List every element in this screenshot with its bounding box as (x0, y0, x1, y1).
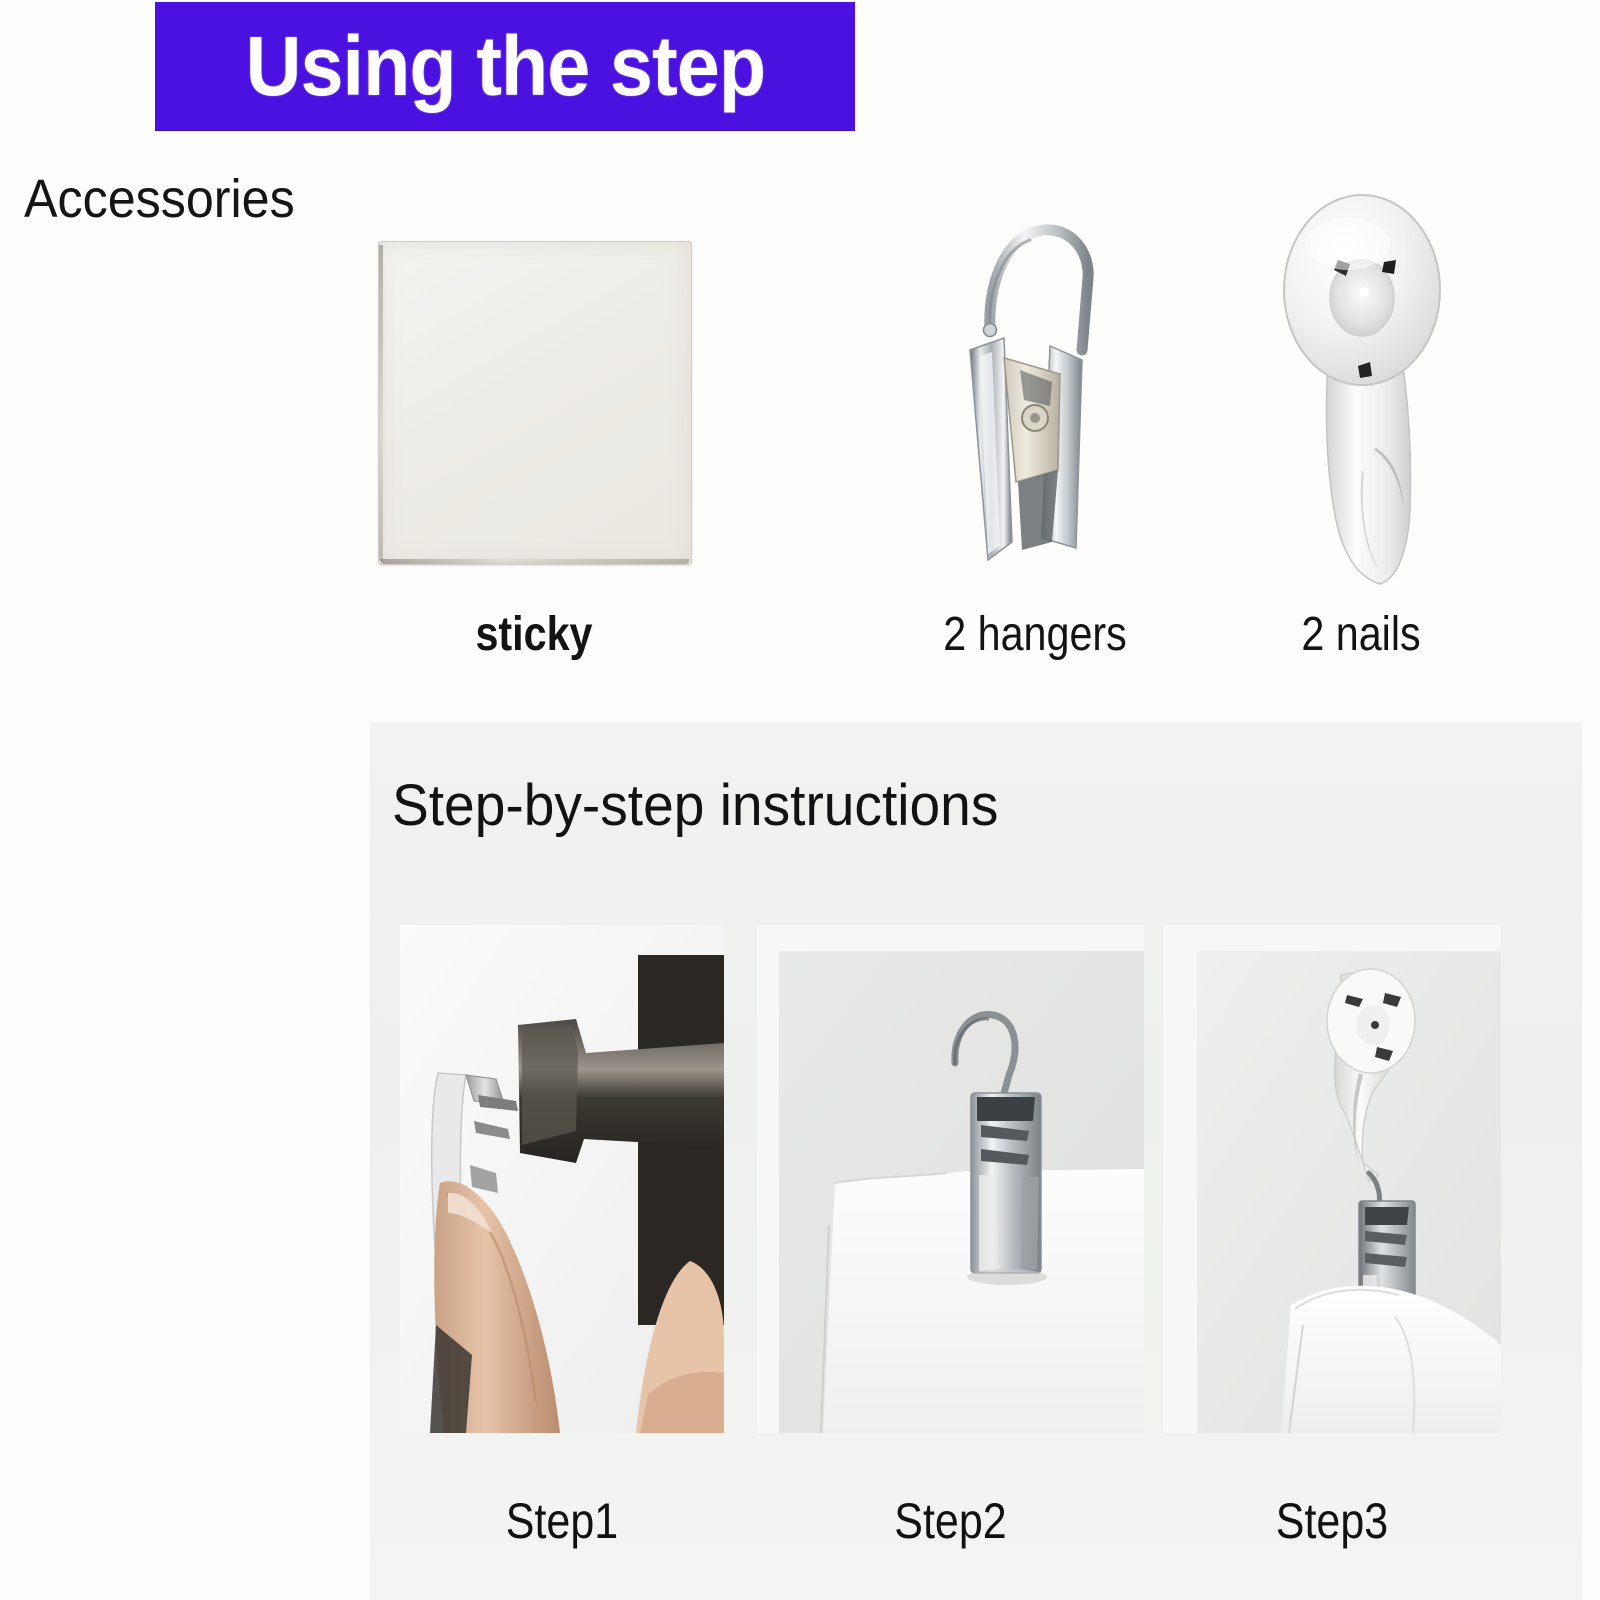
step-1-photo (400, 925, 724, 1433)
title-banner: Using the step (155, 2, 855, 130)
page-title: Using the step (245, 24, 765, 108)
accessory-caption-hangers: 2 hangers (923, 607, 1147, 662)
step-2-photo (757, 925, 1144, 1433)
accessory-caption-sticky: sticky (400, 607, 668, 662)
metal-clip-hanger-icon (930, 170, 1140, 600)
accessory-caption-nails: 2 nails (1266, 607, 1457, 662)
white-wall-hook-icon (1262, 180, 1462, 600)
infographic-page: Using the step Accessories (0, 0, 1600, 1600)
step-2-caption: Step2 (784, 1492, 1117, 1550)
adhesive-pad-icon (378, 241, 692, 565)
instructions-heading: Step-by-step instructions (392, 772, 998, 839)
step-3-photo (1163, 925, 1501, 1433)
step-3-caption: Step3 (1187, 1492, 1478, 1550)
step-1-caption: Step1 (423, 1492, 702, 1550)
accessories-row: sticky 2 hangers 2 nails (0, 215, 1600, 685)
